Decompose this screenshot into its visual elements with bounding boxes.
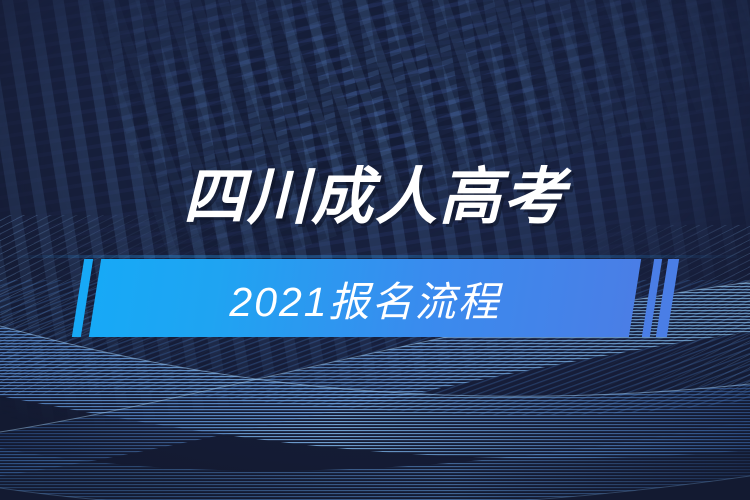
title-block: 四川成人高考 bbox=[0, 0, 750, 500]
page-title: 四川成人高考 bbox=[0, 163, 750, 233]
promo-banner: 四川成人高考 2021报名流程 bbox=[0, 0, 750, 500]
ribbon-top-glow bbox=[0, 255, 750, 258]
subtitle-ribbon: 2021报名流程 bbox=[0, 255, 750, 345]
subtitle-text: 2021报名流程 bbox=[95, 259, 635, 337]
